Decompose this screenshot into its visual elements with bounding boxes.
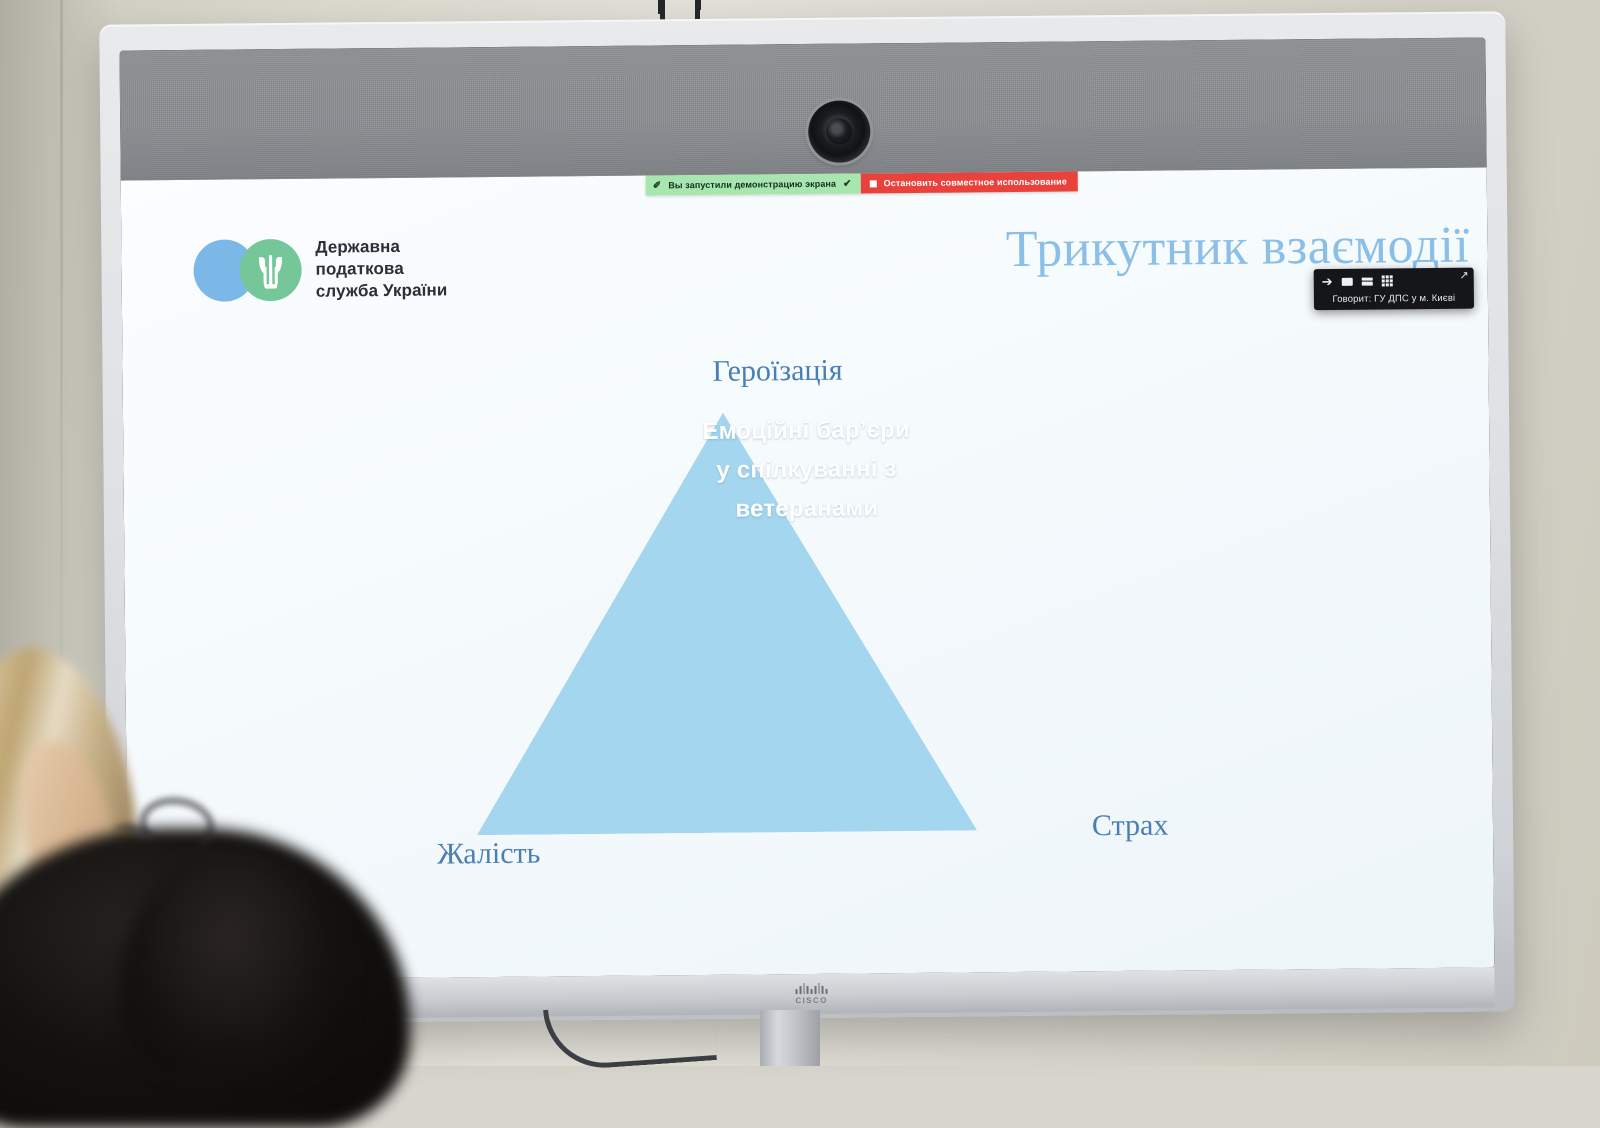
cisco-wordmark: CISCO: [795, 996, 827, 1005]
cisco-logo: CISCO: [795, 983, 828, 1005]
call-control-overlay[interactable]: ↗ ➔ Говорит: ГУ ДПС у м. Києві: [1314, 268, 1474, 311]
triangle-center-caption: Емоційні бар’єри у спілкуванні з ветеран…: [123, 405, 1490, 535]
display-panel: ✐ Вы запустили демонстрацию экрана ✔ Ост…: [119, 37, 1494, 980]
camera-lens-icon: [826, 119, 852, 145]
display-stand-post: [760, 1010, 820, 1066]
overlay-toolbar: ➔: [1320, 273, 1468, 289]
layout-split-icon[interactable]: [1362, 277, 1373, 285]
interaction-triangle-diagram: Емоційні бар’єри у спілкуванні з ветеран…: [121, 167, 1495, 980]
presentation-screen: ✐ Вы запустили демонстрацию экрана ✔ Ост…: [121, 167, 1495, 980]
triangle-vertex-label-top: Героїзація: [712, 354, 842, 389]
triangle-vertex-label-bottom-right: Страх: [1092, 809, 1169, 844]
expand-arrow-icon[interactable]: ↗: [1459, 271, 1468, 282]
camera-icon: [808, 100, 871, 163]
layout-grid-icon[interactable]: [1382, 275, 1393, 286]
cisco-bars-icon: [796, 983, 827, 994]
speaker-fabric-bar: [119, 37, 1486, 180]
triangle-vertex-label-bottom-left: Жалість: [437, 837, 540, 872]
wall-corner-edge: [60, 0, 63, 700]
active-speaker-label: Говорит: ГУ ДПС у м. Києві: [1320, 293, 1468, 305]
layout-single-icon[interactable]: [1342, 277, 1353, 285]
cursor-pointer-icon[interactable]: ➔: [1322, 275, 1333, 288]
